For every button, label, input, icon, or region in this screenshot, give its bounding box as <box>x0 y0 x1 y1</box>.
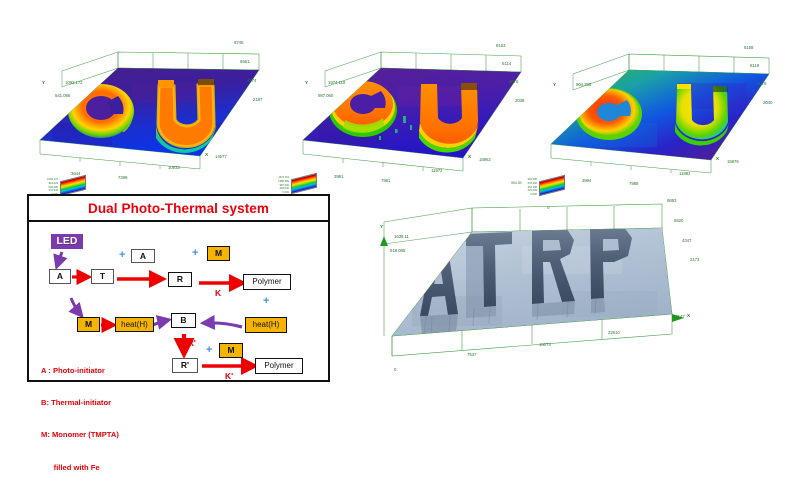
panel-cu-2-xtick-1: 3991 <box>334 174 343 179</box>
panel-atrp-ytick-0: 1638.11 <box>394 234 409 239</box>
panel-cu-3-xtick-4: 15976 <box>727 159 739 164</box>
panel-cu-1: Y X 1092.172 541.086 8746 6561 4374 2187… <box>22 28 272 186</box>
panel-atrp: Y X 1638.11 818.085 8693 6520 4347 2173 … <box>362 196 792 391</box>
scheme-legend: A : Photo-initiator B: Thermal-initiator… <box>41 344 119 495</box>
panel-cu-3-xtick-3: 11982 <box>679 171 690 176</box>
panel-cu-1-xtick-0: 3644 <box>71 171 80 176</box>
legend-line-m: M: Monomer (TMPTA) <box>41 430 119 441</box>
panel-cu-3-ztick-2: 4079 <box>757 81 766 86</box>
panel-cu-1-ztick-1: 6561 <box>240 59 249 64</box>
arrow-a-to-m <box>71 298 81 315</box>
panel-cu-3-ytick-0: 904.395 <box>576 82 591 87</box>
plus-icon-m-top: + <box>192 248 198 259</box>
panel-cu-3-xtick-2: 7988 <box>629 181 638 186</box>
label-k: K <box>215 288 221 298</box>
panel-cu-1-xtick-1: 7289 <box>118 175 127 180</box>
panel-cu-1-ytick-1: 541.086 <box>55 93 70 98</box>
figure-root: Y X 1092.172 541.086 8746 6561 4374 2187… <box>0 0 797 422</box>
panel-cu-2-ztick-1: 6114 <box>502 61 511 66</box>
arrow-heat-right-to-b <box>204 323 242 327</box>
node-heat-left: heat(H) <box>115 317 154 332</box>
panel-cu-2-axis-x-name: X <box>468 154 471 159</box>
node-polymer-top: Polymer <box>243 274 291 290</box>
panel-cu-1-xtick-2: 10933 <box>168 165 180 170</box>
panel-cu-1-axis-y-name: Y <box>42 80 45 85</box>
panel-cu-1-ztick-3: 2187 <box>253 97 262 102</box>
legend-line-b: B: Thermal-initiator <box>41 398 119 409</box>
legend-line-a: A : Photo-initiator <box>41 366 119 377</box>
panel-cu-2-ztick-0: 8153 <box>496 43 505 48</box>
panel-atrp-xtick-1: 7537 <box>467 352 476 357</box>
arrow-led-to-a <box>57 252 62 266</box>
panel-cu-3-axis-x-name: X <box>716 156 719 161</box>
panel-atrp-axis-y-name: Y <box>380 224 383 229</box>
height-map-surface <box>392 227 672 337</box>
letter-c-3d <box>576 88 642 140</box>
panel-atrp-xtick-3: 22610 <box>608 330 620 335</box>
scheme-title: Dual Photo-Thermal system <box>88 201 269 216</box>
legend-line-fe: filled with Fe <box>41 463 119 474</box>
panel-cu-3-ztick-0: 8158 <box>744 45 753 50</box>
panel-cu-1-ztick-0: 8746 <box>234 40 243 45</box>
panel-cu-1-ztick-2: 4374 <box>247 78 256 83</box>
panel-cu-3-colorbar-ticks: 904.395 678.296 452.198 226.099 0.000 <box>505 178 537 197</box>
node-led: LED <box>51 234 83 249</box>
panel-cu-3-ztick-1: 6119 <box>750 63 759 68</box>
letter-c-3d <box>68 84 134 138</box>
scheme-title-bar: Dual Photo-Thermal system <box>29 196 328 222</box>
panel-atrp-ztick-3: 2173 <box>690 257 699 262</box>
panel-cu-3-ztick-3: 2040 <box>763 100 772 105</box>
node-heat-right: heat(H) <box>245 317 287 333</box>
panel-cu-1-plot <box>22 28 272 186</box>
panel-cu-3-plot <box>527 28 785 186</box>
node-a-1: A <box>49 269 71 284</box>
panel-cu-1-xtick-3: 14577 <box>215 154 227 159</box>
panel-atrp-xtick-0: 0 <box>394 367 396 372</box>
panel-cu-2-xtick-3: 11972 <box>431 168 442 173</box>
panel-cu-2-ztick-2: 4076 <box>509 79 518 84</box>
node-a-plus: A <box>131 249 155 263</box>
panel-atrp-axis-x-name: X <box>687 313 690 318</box>
plus-icon-heat: + <box>263 296 269 307</box>
panel-atrp-ztick-2: 4347 <box>682 238 691 243</box>
node-b: B <box>171 313 196 328</box>
node-m-bottom: M <box>219 343 243 358</box>
panel-atrp-ztick-0: 8693 <box>667 198 676 203</box>
node-r: R <box>168 272 192 287</box>
node-polymer-bottom: Polymer <box>255 358 303 374</box>
panel-cu-3: Y X 904.395 8158 6119 4079 2040 0 3994 7… <box>527 28 785 186</box>
panel-cu-2-colorbar-ticks: 1974.119 1480.589 987.060 493.530 0.000 <box>261 176 289 195</box>
node-m-top: M <box>207 246 230 261</box>
panel-atrp-xtick-4: 30147 <box>673 314 685 319</box>
node-m-left: M <box>77 317 100 332</box>
label-k-prime-big: K' <box>225 371 233 381</box>
panel-cu-2-axis-y-name: Y <box>305 80 308 85</box>
node-r-prime: R' <box>172 358 198 373</box>
panel-cu-2-xtick-2: 7981 <box>381 178 390 183</box>
panel-cu-1-ytick-0: 1092.172 <box>65 80 83 85</box>
panel-cu-2: Y X 1974.119 987.060 8153 6114 4076 2038… <box>283 28 533 186</box>
panel-atrp-plot <box>362 196 792 391</box>
panel-cu-2-plot <box>283 28 533 186</box>
panel-cu-3-xtick-1: 3994 <box>582 178 591 183</box>
scheme-diagram: Dual Photo-Thermal system <box>27 194 330 382</box>
panel-cu-2-ytick-0: 1974.119 <box>328 80 345 85</box>
panel-cu-1-axis-x-name: X <box>205 152 208 157</box>
scheme-body: LED A T + A + M R Polymer K + M heat(H) … <box>29 222 328 382</box>
panel-atrp-ztick-1: 6520 <box>674 218 683 223</box>
panel-cu-3-axis-y-name: Y <box>553 82 556 87</box>
plus-icon-a: + <box>119 250 125 261</box>
label-k-prime-small: k' <box>189 338 196 348</box>
panel-cu-2-xtick-4: 15962 <box>479 157 491 162</box>
node-t: T <box>91 269 114 284</box>
panel-atrp-xtick-2: 15074 <box>539 342 551 347</box>
plus-icon-m-bottom: + <box>206 345 212 356</box>
panel-atrp-ytick-1: 818.085 <box>390 248 405 253</box>
panel-cu-2-ytick-1: 987.060 <box>318 93 333 98</box>
panel-cu-2-ztick-3: 2038 <box>515 98 524 103</box>
